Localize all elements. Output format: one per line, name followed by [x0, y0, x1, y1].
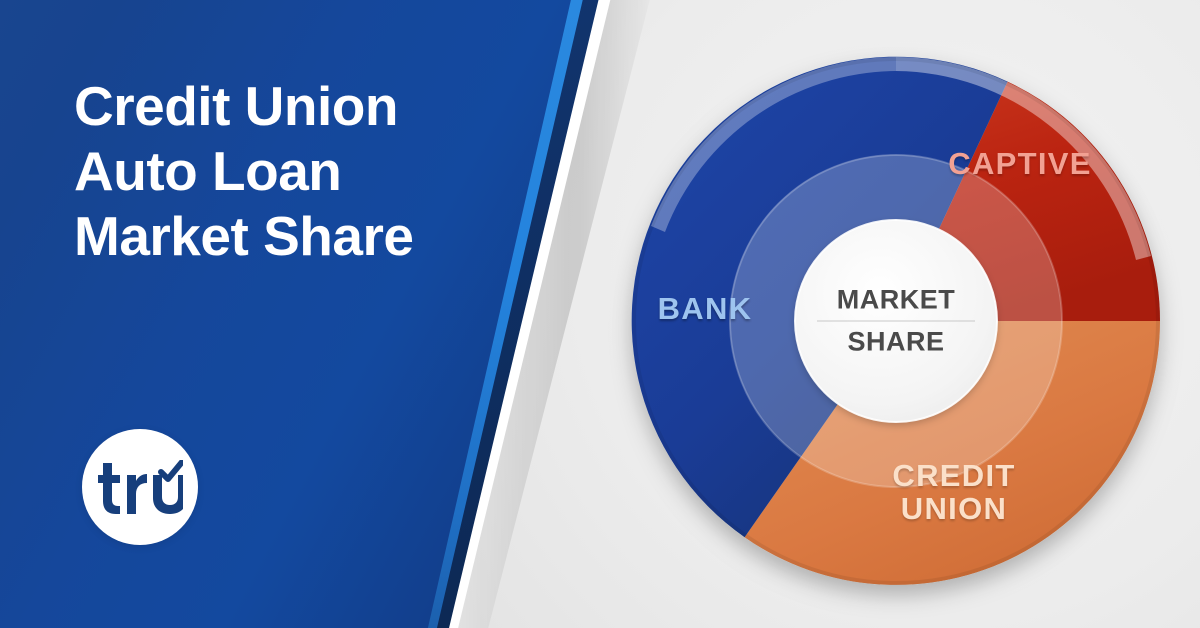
center-label-divider	[817, 321, 975, 322]
title-line-2: Auto Loan	[74, 139, 544, 204]
pie-label-captive: CAPTIVE	[925, 148, 1115, 181]
chart-center-label: MARKET SHARE	[811, 287, 981, 356]
tru-logo[interactable]	[82, 429, 198, 545]
pie-label-bank: BANK	[635, 293, 775, 326]
center-label-line-1: MARKET	[811, 287, 981, 321]
tru-wordmark-icon	[97, 460, 183, 514]
promo-graphic: CAPTIVE BANK CREDITUNION MARKET SHARE Cr…	[0, 0, 1200, 628]
title-line-3: Market Share	[74, 204, 544, 269]
center-label-line-2: SHARE	[811, 329, 981, 356]
page-title: Credit Union Auto Loan Market Share	[74, 74, 544, 269]
title-line-1: Credit Union	[74, 74, 544, 139]
market-share-donut-chart: CAPTIVE BANK CREDITUNION MARKET SHARE	[631, 56, 1161, 586]
pie-label-credit-union: CREDITUNION	[849, 460, 1059, 525]
